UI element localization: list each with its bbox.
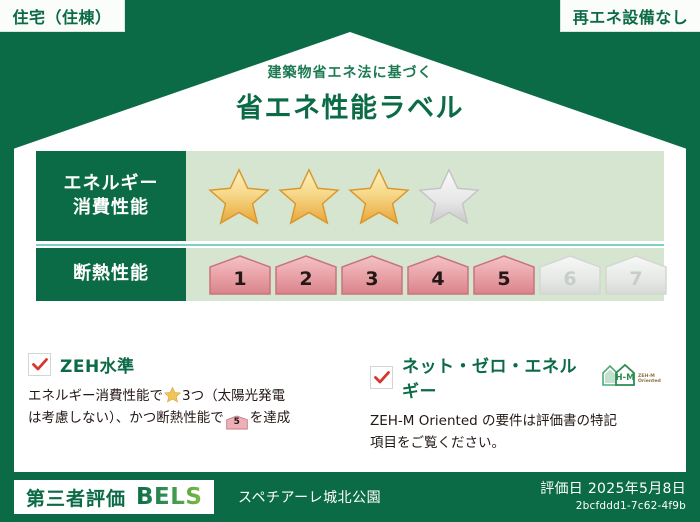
nzeb-body: ZEH-M Oriented の要件は評価書の特記 項目をご覧ください。 xyxy=(370,411,662,455)
bels-badge: 第三者評価 BELS xyxy=(14,480,214,514)
nzeb-body-line2: 項目をご覧ください。 xyxy=(370,433,662,455)
zeh-body: エネルギー消費性能で3つ（太陽光発電 は考慮しない）、かつ断熱性能で5を達成 xyxy=(28,386,338,430)
insulation-badge-6-label: 6 xyxy=(563,268,576,296)
insulation-badge-7: 7 xyxy=(604,254,668,296)
zeh-title: ZEH水準 xyxy=(60,352,135,377)
row-insulation-label-line1: 断熱性能 xyxy=(73,262,149,286)
row-separator xyxy=(36,244,664,246)
performance-rows: エネルギー 消費性能 xyxy=(36,151,664,301)
zeh-body-part1: エネルギー消費性能で xyxy=(28,388,163,404)
row-insulation-label: 断熱性能 xyxy=(36,248,186,301)
row-energy-label-line2: 消費性能 xyxy=(73,196,149,220)
tag-building-type: 住宅（住棟） xyxy=(0,0,125,32)
evaluation-date: 評価日 2025年5月8日 xyxy=(540,478,686,498)
insulation-badge-1: 1 xyxy=(208,254,272,296)
nzeb-header: ネット・ゼロ・エネルギー H-M ZEH-M Oriented xyxy=(370,352,662,402)
insulation-badge-5-label: 5 xyxy=(497,268,510,296)
zeh-body-part2: は考慮しない）、かつ断熱性能で xyxy=(28,410,224,426)
checkmark-icon-nzeb xyxy=(370,366,393,389)
row-energy-label: エネルギー 消費性能 xyxy=(36,151,186,241)
insulation-badge-2-label: 2 xyxy=(299,268,312,296)
row-insulation-badges: 1 2 3 xyxy=(186,248,668,301)
insulation-badge-4-label: 4 xyxy=(431,268,444,296)
zeh-m-oriented-logo-icon: H-M ZEH-M Oriented xyxy=(600,362,662,392)
row-energy-stars xyxy=(186,151,664,241)
zeh-body-part3: を達成 xyxy=(250,410,291,426)
tag-renewable-equipment: 再エネ設備なし xyxy=(560,0,700,32)
svg-text:H-M: H-M xyxy=(615,373,634,383)
inline-star-icon xyxy=(164,386,181,403)
building-name: スペチアーレ城北公園 xyxy=(238,487,381,507)
insulation-badge-6: 6 xyxy=(538,254,602,296)
svg-text:Oriented: Oriented xyxy=(638,378,661,384)
insulation-badge-1-label: 1 xyxy=(233,268,246,296)
nzeb-title: ネット・ゼロ・エネルギー xyxy=(402,352,585,402)
insulation-badge-4: 4 xyxy=(406,254,470,296)
inline-badge-label: 5 xyxy=(226,414,248,431)
info-panels: ZEH水準 エネルギー消費性能で3つ（太陽光発電 は考慮しない）、かつ断熱性能で… xyxy=(28,352,676,455)
evaluation-id: 2bcfddd1-7c62-4f9b xyxy=(540,500,686,512)
insulation-badge-5: 5 xyxy=(472,254,536,296)
insulation-badge-3: 3 xyxy=(340,254,404,296)
insulation-badge-7-label: 7 xyxy=(629,268,642,296)
insulation-level-badges: 1 2 3 xyxy=(208,254,668,296)
star-icon-filled-3 xyxy=(348,166,410,226)
zeh-body-star-count: 3つ（太陽光発電 xyxy=(182,388,285,404)
checkmark-icon-zeh xyxy=(28,353,51,376)
info-panel-zeh: ZEH水準 エネルギー消費性能で3つ（太陽光発電 は考慮しない）、かつ断熱性能で… xyxy=(28,352,352,455)
bels-energy-label: 住宅（住棟） 再エネ設備なし 建築物省エネ法に基づく 省エネ性能ラベル ハウスデ… xyxy=(0,0,700,522)
footer: 第三者評価 BELS スペチアーレ城北公園 評価日 2025年5月8日 2bcf… xyxy=(0,472,700,522)
star-icon-filled-2 xyxy=(278,166,340,226)
row-energy-performance: エネルギー 消費性能 xyxy=(36,151,664,241)
evaluation-info: 評価日 2025年5月8日 2bcfddd1-7c62-4f9b xyxy=(540,478,686,512)
bels-en-label: BELS xyxy=(136,484,202,510)
star-icon-filled-1 xyxy=(208,166,270,226)
row-insulation-performance: 断熱性能 1 xyxy=(36,248,664,301)
info-panel-nzeb: ネット・ゼロ・エネルギー H-M ZEH-M Oriented ZEH-M Or… xyxy=(352,352,676,455)
zeh-header: ZEH水準 xyxy=(28,352,338,377)
insulation-badge-3-label: 3 xyxy=(365,268,378,296)
inline-insulation-badge: 5 xyxy=(226,414,248,429)
star-icon-empty-4 xyxy=(418,166,480,226)
insulation-badge-2: 2 xyxy=(274,254,338,296)
bels-jp-label: 第三者評価 xyxy=(26,484,126,511)
row-energy-label-line1: エネルギー xyxy=(64,172,159,196)
nzeb-body-line1: ZEH-M Oriented の要件は評価書の特記 xyxy=(370,411,662,433)
